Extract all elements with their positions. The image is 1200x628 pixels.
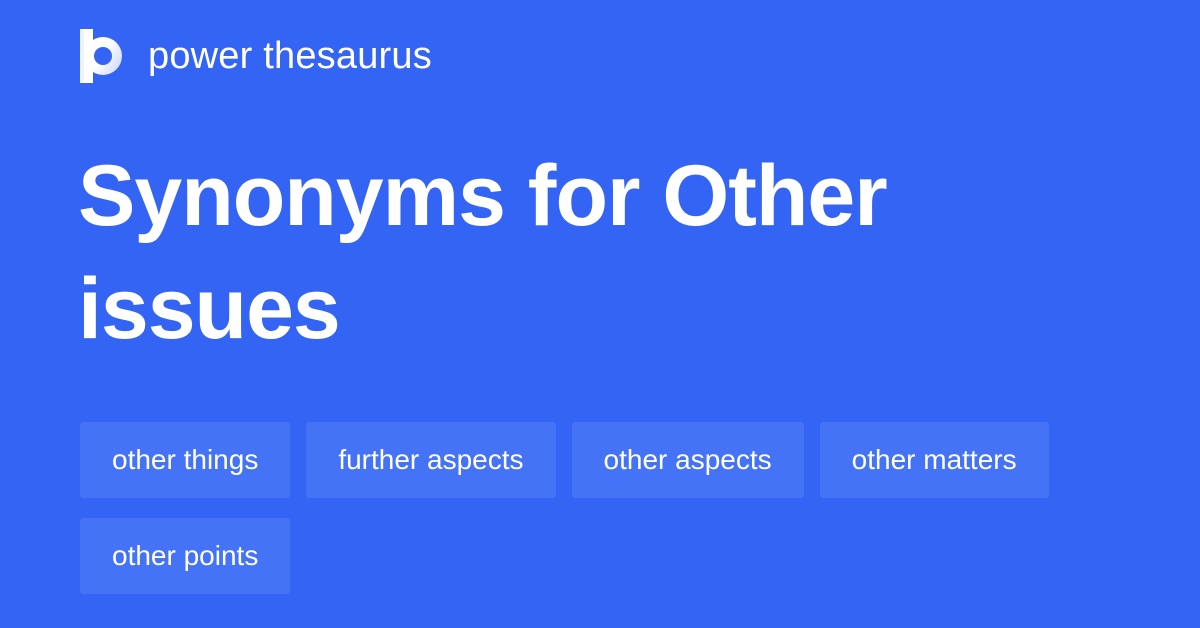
synonym-tag[interactable]: other aspects	[572, 422, 804, 498]
brand-name: power thesaurus	[148, 29, 432, 83]
share-card: power thesaurus Synonyms for Other issue…	[0, 0, 1200, 628]
power-thesaurus-logo-icon	[80, 29, 126, 83]
synonym-tag[interactable]: further aspects	[306, 422, 555, 498]
synonym-tag-list: other things further aspects other aspec…	[80, 422, 1120, 594]
brand-header[interactable]: power thesaurus	[80, 28, 432, 84]
synonym-tag[interactable]: other matters	[820, 422, 1049, 498]
synonym-tag[interactable]: other things	[80, 422, 290, 498]
synonym-tag[interactable]: other points	[80, 518, 290, 594]
page-title: Synonyms for Other issues	[78, 140, 1128, 366]
